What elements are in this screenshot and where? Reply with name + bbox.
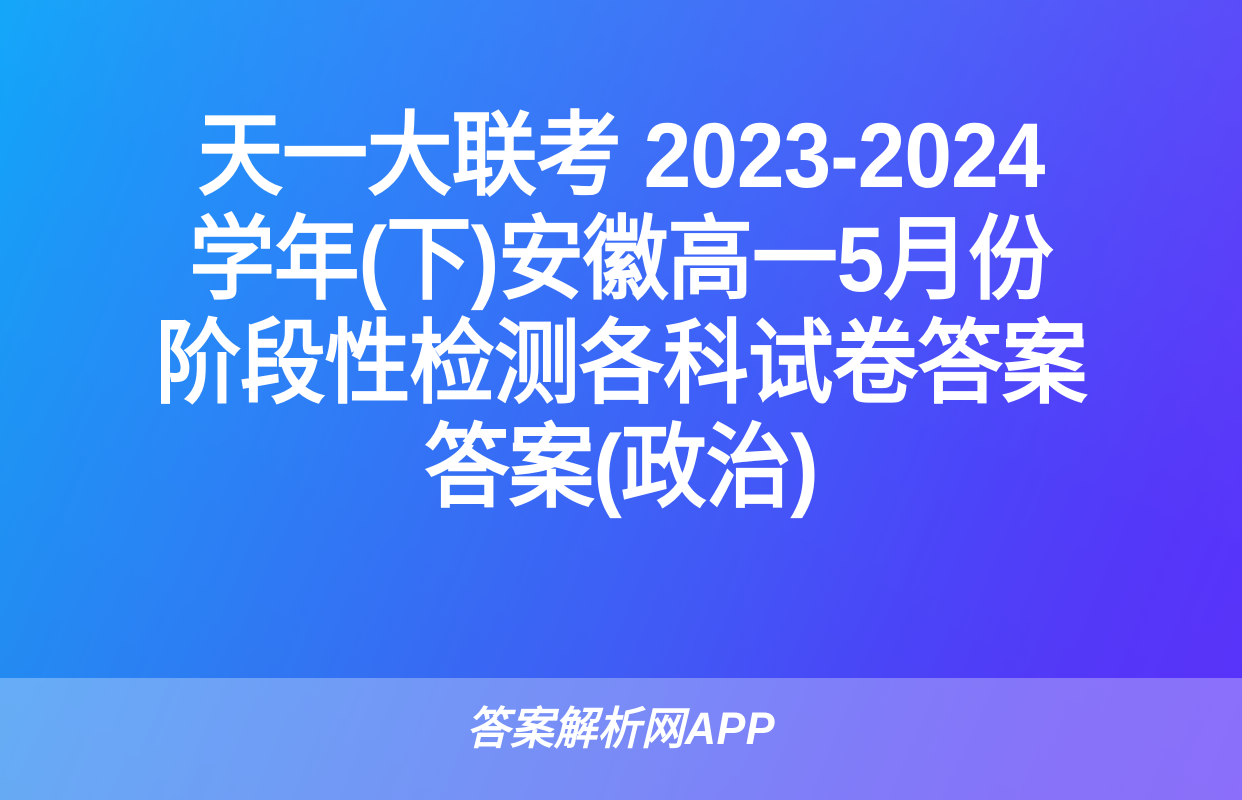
title-line-3: 阶段性检测各科试卷答案 — [43, 312, 1198, 416]
title-line-2: 学年(下)安徽高一5月份 — [43, 208, 1198, 312]
poster-canvas: 天一大联考 2023-2024 学年(下)安徽高一5月份 阶段性检测各科试卷答案… — [0, 0, 1242, 800]
title-line-1: 天一大联考 2023-2024 — [43, 104, 1198, 208]
footer-band — [0, 678, 1242, 800]
title-line-4: 答案(政治) — [43, 416, 1198, 520]
poster-title-block: 天一大联考 2023-2024 学年(下)安徽高一5月份 阶段性检测各科试卷答案… — [0, 0, 1242, 520]
